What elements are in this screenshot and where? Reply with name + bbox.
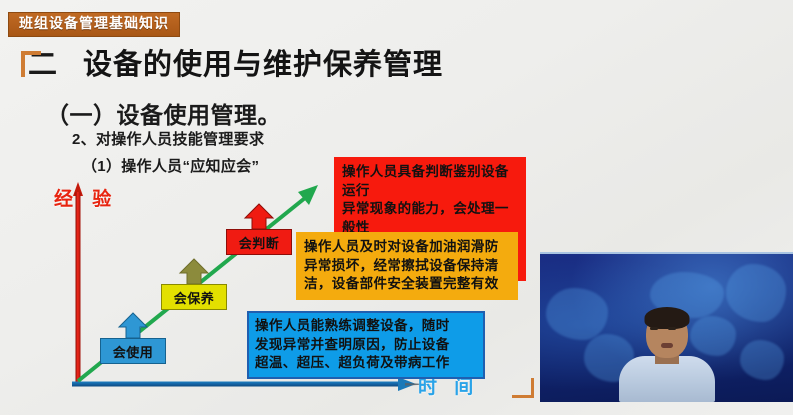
- callout-yellow-line-3: 洁，设备部件安全装置完整有效: [304, 275, 510, 294]
- section-heading: 二 设备的使用与维护保养管理: [18, 48, 443, 84]
- callout-red-line-1: 操作人员具备判断鉴别设备运行: [342, 163, 518, 200]
- callout-box-blue: 操作人员能熟练调整设备，随时 发现异常并查明原因，防止设备 超温、超压、超负荷及…: [247, 311, 485, 379]
- corner-bracket-bottom-icon: [512, 378, 534, 398]
- callout-blue-line-2: 发现异常并查明原因，防止设备: [255, 336, 477, 355]
- step-block-maintain: 会保养: [161, 284, 227, 310]
- step-block-use: 会使用: [100, 338, 166, 364]
- presenter-figure: [619, 314, 715, 402]
- callout-blue-line-1: 操作人员能熟练调整设备，随时: [255, 317, 477, 336]
- step-nub-judge: [245, 204, 273, 229]
- callout-yellow-line-1: 操作人员及时对设备加油润滑防: [304, 238, 510, 257]
- corner-bracket-icon: [18, 48, 40, 84]
- subheading-level-2: 2、对操作人员技能管理要求: [72, 128, 264, 149]
- y-axis-label: 经 验: [54, 184, 118, 211]
- step-label-maintain: 会保养: [174, 288, 215, 307]
- x-axis: [72, 377, 432, 391]
- subheading-level-1: （一）设备使用管理。: [46, 96, 281, 130]
- step-label-use: 会使用: [113, 342, 154, 361]
- slide-canvas: 班组设备管理基础知识 二 设备的使用与维护保养管理 （一）设备使用管理。 2、对…: [0, 0, 793, 415]
- callout-blue-line-3: 超温、超压、超负荷及带病工作: [255, 354, 477, 373]
- step-block-judge: 会判断: [226, 229, 292, 255]
- step-nub-use: [119, 313, 147, 338]
- y-axis: [73, 182, 83, 384]
- course-title-tag: 班组设备管理基础知识: [8, 12, 180, 37]
- presenter-video[interactable]: [540, 252, 793, 402]
- callout-yellow-line-2: 异常损坏，经常擦拭设备保持清: [304, 257, 510, 276]
- step-nub-maintain: [180, 259, 208, 284]
- subheading-level-3: （1）操作人员“应知应会”: [82, 155, 259, 176]
- step-label-judge: 会判断: [239, 233, 280, 252]
- page-title: 设备的使用与维护保养管理: [83, 51, 443, 80]
- callout-box-yellow: 操作人员及时对设备加油润滑防 异常损坏，经常擦拭设备保持清 洁，设备部件安全装置…: [296, 232, 518, 300]
